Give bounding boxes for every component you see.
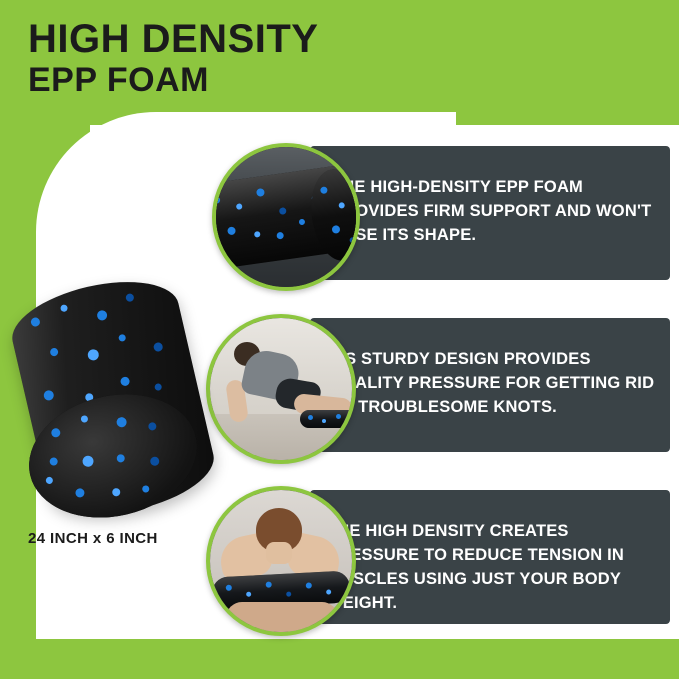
thumbnail-2-roller [300,410,356,428]
page-title: HIGH DENSITY EPP FOAM [28,18,498,99]
thumbnail-3-neck [266,542,292,564]
feature-2-thumbnail [206,314,356,464]
feature-3-text: THE HIGH DENSITY CREATES PRESSURE TO RED… [327,520,665,616]
thumbnail-3-back [226,602,338,636]
product-infographic: HIGH DENSITY EPP FOAM [0,0,679,679]
feature-1-thumbnail [212,143,360,291]
feature-2-text: ITS STURDY DESIGN PROVIDES QUALITY PRESS… [330,348,662,420]
feature-3-thumbnail [206,486,356,636]
green-footer-band [0,639,679,679]
title-line-1: HIGH DENSITY [28,18,498,60]
feature-1-text: THE HIGH-DENSITY EPP FOAM PROVIDES FIRM … [332,176,662,248]
dimension-label: 24 INCH x 6 INCH [28,530,158,547]
hero-foam-roller-image [10,280,220,520]
title-line-2: EPP FOAM [28,62,498,99]
